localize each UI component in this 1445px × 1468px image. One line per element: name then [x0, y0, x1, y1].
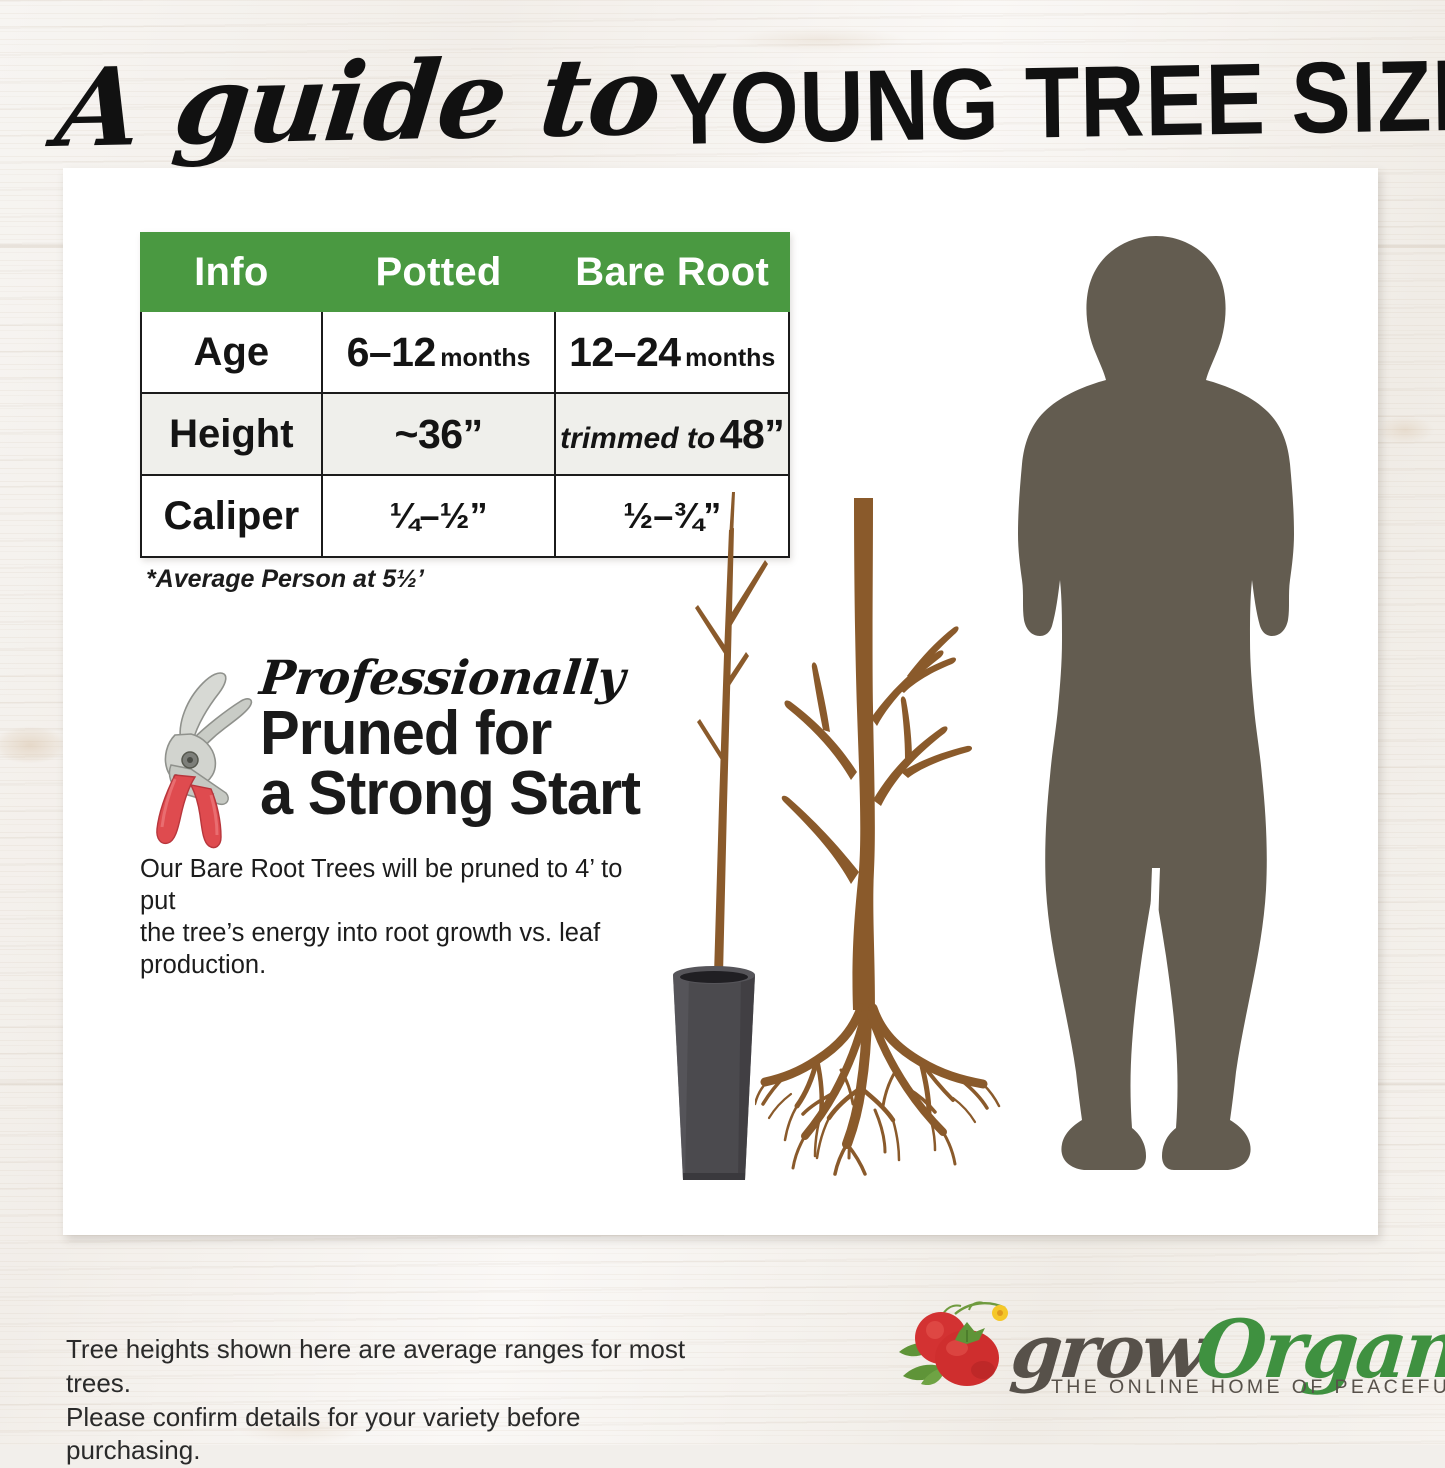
cell-height-bareroot-value: 48”	[720, 411, 785, 457]
pruning-text-block: Professionally Pruned for a Strong Start	[260, 655, 680, 823]
column-header-bare-root: Bare Root	[555, 233, 789, 311]
disclaimer-line-2: Please confirm details for your variety …	[66, 1401, 706, 1468]
bypass-pruner-icon	[145, 665, 255, 850]
cell-height-bareroot: trimmed to 48”	[555, 393, 789, 475]
tomato-logo-icon	[893, 1296, 1023, 1406]
column-header-info: Info	[141, 233, 322, 311]
table-row: Age 6–12 months 12–24 months	[141, 311, 789, 393]
pruning-body-line-1: Our Bare Root Trees will be pruned to 4’…	[140, 853, 660, 917]
page-title-block: YOUNG TREE SIZES	[669, 47, 1445, 159]
table-head: Info Potted Bare Root	[141, 233, 789, 311]
cell-age-potted-unit: months	[440, 344, 530, 372]
cell-age-bareroot: 12–24 months	[555, 311, 789, 393]
cell-height-potted-value: ~36”	[395, 411, 483, 457]
cell-age-bareroot-unit: months	[685, 344, 775, 372]
page-title: A guide to YOUNG TREE SIZES	[52, 44, 1397, 159]
cell-age-potted-value: 6–12	[347, 329, 436, 375]
flower	[992, 1305, 1008, 1321]
pruning-body-line-2: the tree’s energy into root growth vs. l…	[140, 917, 660, 981]
column-header-potted: Potted	[322, 233, 556, 311]
pruning-body-text: Our Bare Root Trees will be pruned to 4’…	[140, 853, 660, 982]
row-label-caliper: Caliper	[141, 475, 322, 557]
row-label-age: Age	[141, 311, 322, 393]
cell-height-potted: ~36”	[322, 393, 556, 475]
row-label-height: Height	[141, 393, 322, 475]
cell-age-bareroot-value: 12–24	[569, 329, 681, 375]
pruning-headline-1: Pruned for	[260, 704, 663, 764]
cell-height-bareroot-prefix: trimmed to	[560, 422, 715, 455]
pruning-script-line: Professionally	[258, 655, 683, 702]
grow-organic-logo[interactable]: growOrganic.COM THE ONLINE HOME OF PEACE…	[893, 1296, 1393, 1421]
disclaimer-line-1: Tree heights shown here are average rang…	[66, 1333, 706, 1401]
person-silhouette-illustration	[988, 228, 1328, 1218]
nursery-pot	[673, 966, 755, 1180]
cell-age-potted: 6–12 months	[322, 311, 556, 393]
table-header-row: Info Potted Bare Root	[141, 233, 789, 311]
disclaimer-text: Tree heights shown here are average rang…	[66, 1333, 706, 1468]
cell-caliper-potted: ¼–½”	[322, 475, 556, 557]
average-person-footnote: *Average Person at 5½’	[146, 565, 424, 594]
pruning-headline-2: a Strong Start	[260, 764, 663, 824]
cell-caliper-potted-value: ¼–½”	[390, 495, 488, 536]
table-row: Height ~36” trimmed to 48”	[141, 393, 789, 475]
page-title-script: A guide to	[52, 47, 664, 159]
bare-root-tree-illustration	[755, 480, 1005, 1180]
logo-tagline: THE ONLINE HOME OF PEACEFUL VALLEY	[1051, 1376, 1445, 1399]
